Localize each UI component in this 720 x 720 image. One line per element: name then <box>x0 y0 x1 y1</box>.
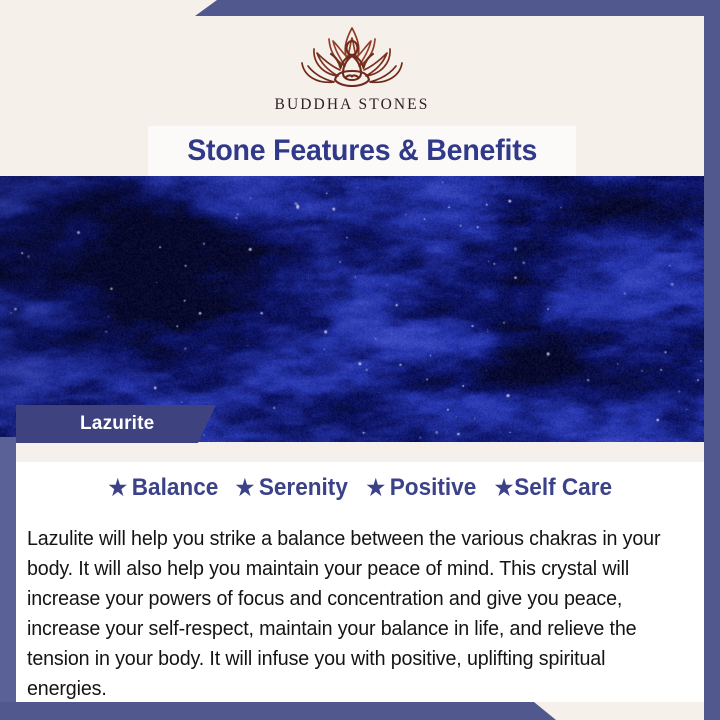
stone-photo <box>0 176 720 442</box>
benefits-list: ★Balance★Serenity★Positive★Self Care <box>16 474 704 502</box>
content-top-strip <box>16 442 704 462</box>
decor-rail-right <box>704 0 720 720</box>
stone-name-label: Lazurite <box>16 413 154 435</box>
benefit-label: Self Care <box>514 474 612 502</box>
header: BUDDHA STONES Stone Features & Benefits <box>0 0 720 176</box>
star-icon: ★ <box>108 477 127 499</box>
benefit-label: Serenity <box>259 474 348 502</box>
benefit-item: ★Self Care <box>494 474 611 502</box>
star-icon: ★ <box>494 477 513 499</box>
lotus-meditation-icon <box>277 24 427 90</box>
page-title: Stone Features & Benefits <box>187 134 537 168</box>
brand-wordmark: BUDDHA STONES <box>0 96 704 114</box>
benefit-label: Positive <box>390 474 477 502</box>
page-title-plate: Stone Features & Benefits <box>148 126 576 176</box>
benefit-item: ★Serenity <box>236 474 348 502</box>
star-icon: ★ <box>366 477 385 499</box>
benefit-label: Balance <box>131 474 218 502</box>
decor-chevron-top-left <box>195 0 720 16</box>
stone-description: Lazulite will help you strike a balance … <box>27 524 675 704</box>
stone-photo-canvas <box>0 176 720 442</box>
benefit-item: ★Balance <box>108 474 218 502</box>
brand-logo: BUDDHA STONES <box>0 24 704 114</box>
stone-name-banner: Lazurite <box>16 405 216 443</box>
star-icon: ★ <box>236 477 255 499</box>
decor-chevron-bottom-left <box>0 702 556 720</box>
benefit-item: ★Positive <box>366 474 476 502</box>
content-panel: ★Balance★Serenity★Positive★Self Care Laz… <box>16 442 704 702</box>
stone-benefits-infographic: BUDDHA STONES Stone Features & Benefits … <box>0 0 720 720</box>
decor-rail-left <box>0 437 16 720</box>
